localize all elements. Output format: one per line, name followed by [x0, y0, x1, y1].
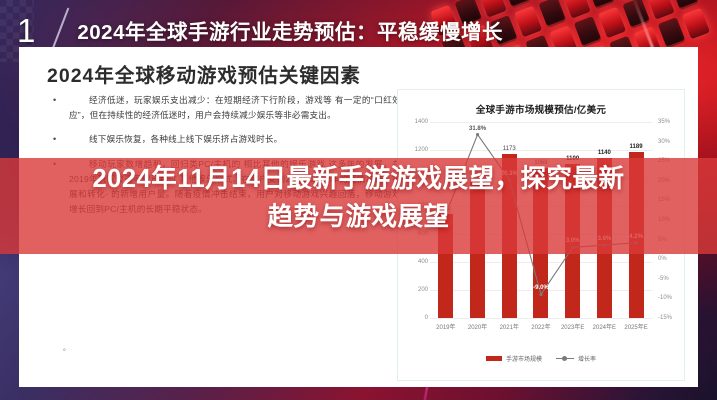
y-tick-left: 1200	[415, 147, 428, 153]
screenshot-root: 1 2024年全球手游行业走势预估：平稳缓慢增长 2024年全球移动游戏预估关键…	[0, 0, 717, 400]
y-tick-right: 0%	[658, 256, 667, 262]
overlay-title-line1: 2024年11月14日最新手游游戏展望，探究最新	[0, 160, 717, 198]
y-tick-left: 200	[418, 287, 428, 293]
x-tick-label: 2020年	[464, 322, 491, 331]
slide-footnote: 。	[63, 343, 70, 353]
overlay-title: 2024年11月14日最新手游游戏展望，探究最新 趋势与游戏展望	[0, 160, 717, 236]
bullet-marker-icon: •	[49, 93, 69, 123]
bullet-text: 经济低迷，玩家娱乐支出减少：在短期经济下行阶段，游戏等 有一定的“口红效应”，但…	[69, 93, 401, 123]
x-tick-label: 2025年E	[623, 322, 650, 331]
legend-swatch-bar	[486, 356, 502, 361]
y-tick-right: -15%	[658, 315, 672, 321]
legend-swatch-line	[556, 358, 574, 360]
x-tick-label: 2022年	[528, 322, 555, 331]
x-tick-label: 2021年	[496, 322, 523, 331]
y-tick-left: 400	[418, 259, 428, 265]
header-title: 2024年全球手游行业走势预估：平稳缓慢增长	[77, 15, 503, 45]
chart-title: 全球手游市场规模预估/亿美元	[398, 102, 684, 116]
y-tick-right: -10%	[658, 295, 672, 301]
section-number: 1	[17, 14, 35, 47]
overlay-title-line2: 趋势与游戏展望	[0, 198, 717, 236]
y-tick-right: 35%	[658, 119, 670, 125]
x-axis-labels: 2019年2020年2021年2022年2023年E2024年E2025年E	[430, 322, 652, 331]
x-tick-label: 2024年E	[591, 322, 618, 331]
bullet-text: 线下娱乐恢复，各种线上线下娱乐挤占游戏时长。	[69, 132, 282, 147]
slash-divider-icon	[41, 8, 75, 52]
list-item: • 经济低迷，玩家娱乐支出减少：在短期经济下行阶段，游戏等 有一定的“口红效应”…	[49, 93, 401, 123]
slide-title: 2024年全球移动游戏预估关键因素	[47, 59, 361, 88]
y-tick-right: 30%	[658, 139, 670, 145]
legend-label-bar: 手游市场规模	[506, 354, 542, 363]
legend-item-line: 增长率	[556, 354, 596, 363]
legend-item-bar: 手游市场规模	[486, 354, 542, 363]
y-tick-left: 0	[425, 315, 428, 321]
line-value-label: -9.0%	[533, 285, 549, 291]
legend-label-line: 增长率	[578, 354, 596, 363]
line-value-label: 31.8%	[469, 126, 486, 132]
x-tick-label: 2023年E	[559, 322, 586, 331]
chart-legend: 手游市场规模 增长率	[398, 354, 684, 363]
bullet-marker-icon: •	[49, 132, 69, 147]
list-item: • 线下娱乐恢复，各种线上线下娱乐挤占游戏时长。	[49, 132, 401, 147]
x-tick-label: 2019年	[433, 322, 460, 331]
y-tick-left: 1400	[415, 119, 428, 125]
y-tick-right: -5%	[658, 276, 669, 282]
